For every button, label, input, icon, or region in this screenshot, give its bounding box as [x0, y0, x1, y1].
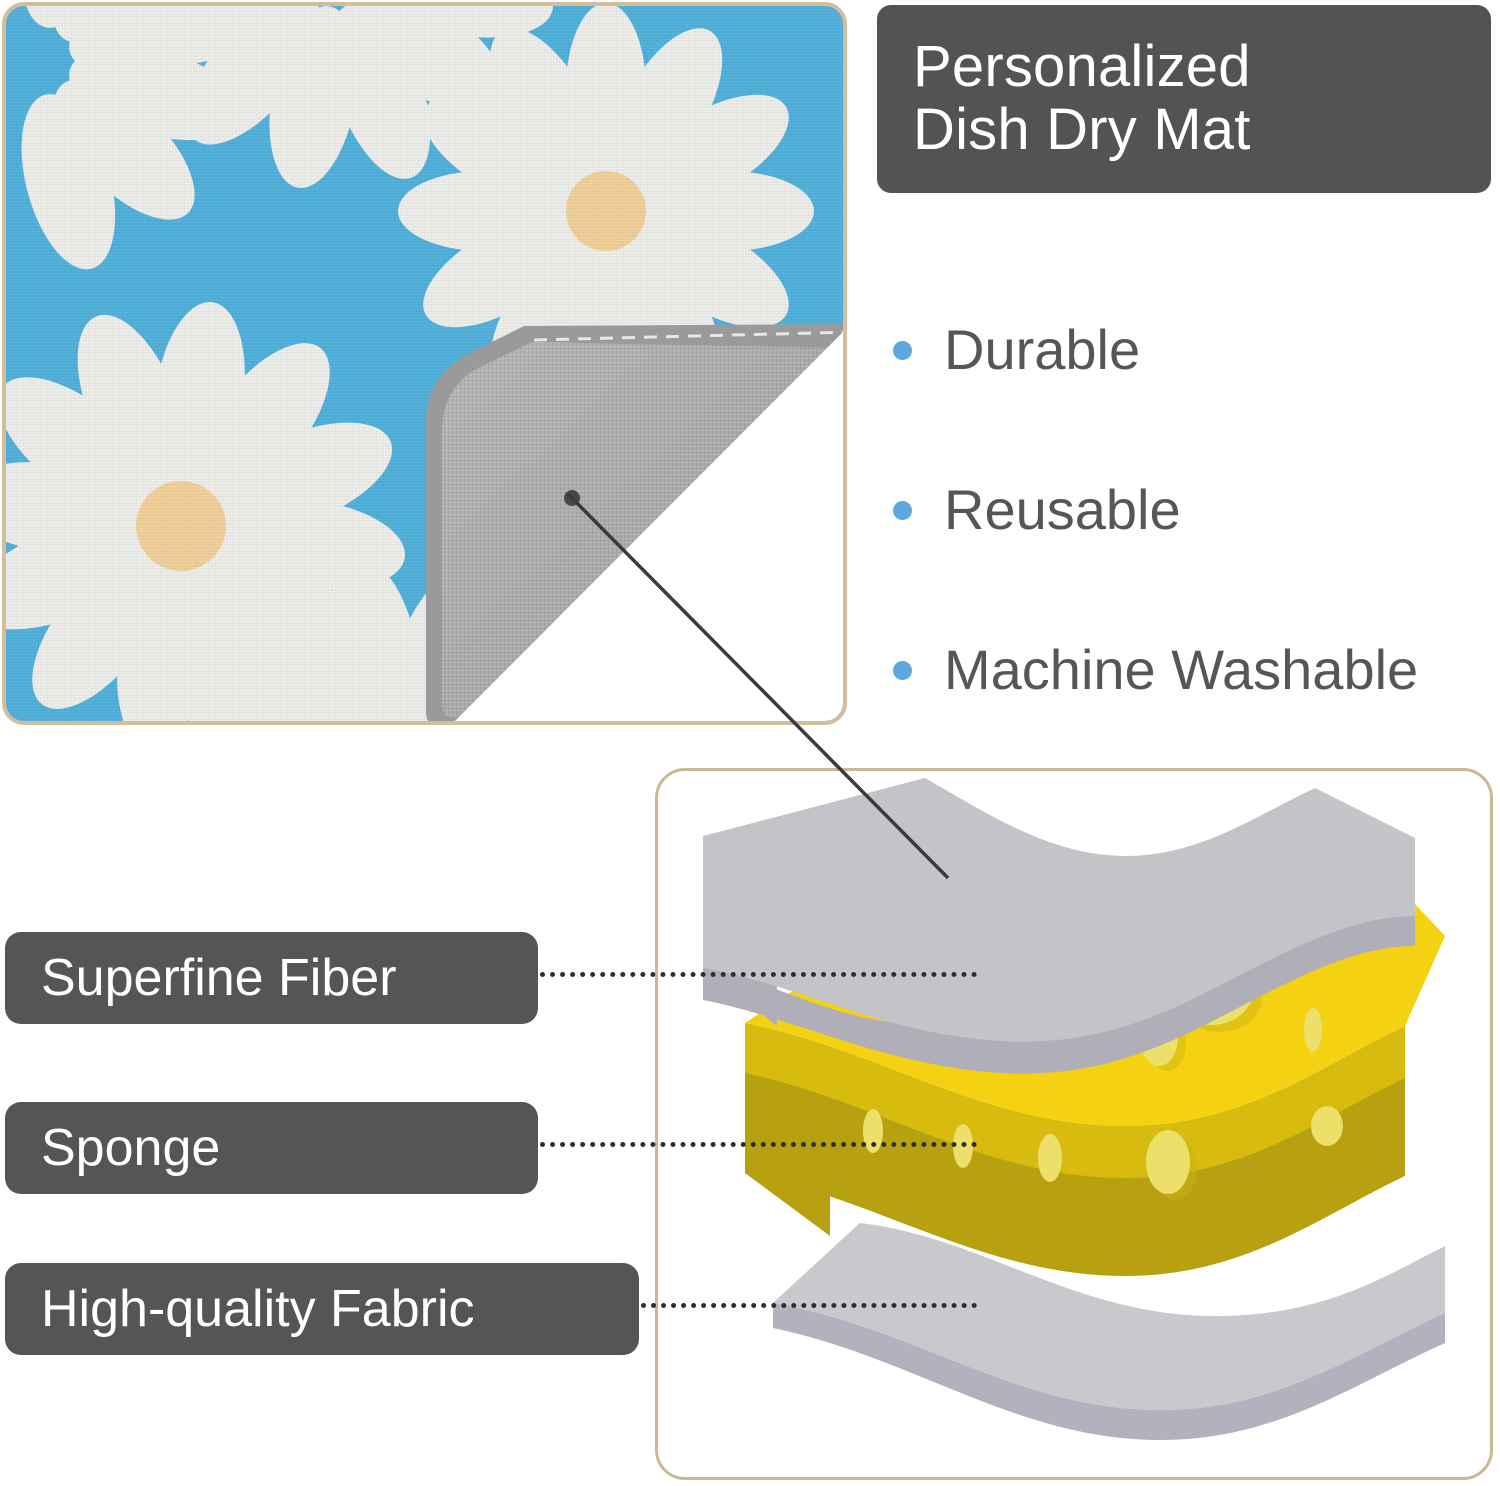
layer-label-sponge: Sponge — [5, 1102, 538, 1194]
product-photo-image — [6, 6, 843, 721]
title-banner: Personalized Dish Dry Mat — [877, 5, 1491, 193]
feature-list: Durable Reusable Machine Washable — [893, 270, 1493, 750]
leader-line-high-quality-fabric — [641, 1303, 977, 1308]
bullet-dot-icon — [893, 661, 912, 680]
feature-label: Machine Washable — [944, 642, 1418, 698]
layer-label-text: Sponge — [41, 1122, 220, 1174]
layer-label-high-quality-fabric: High-quality Fabric — [5, 1263, 639, 1355]
feature-label: Reusable — [944, 482, 1181, 538]
exploded-layer-illustration — [655, 768, 1500, 1486]
feature-item-reusable: Reusable — [893, 430, 1493, 590]
title-line-2: Dish Dry Mat — [913, 99, 1491, 162]
bullet-dot-icon — [893, 501, 912, 520]
layer-label-text: Superfine Fiber — [41, 952, 397, 1004]
leader-line-superfine-fiber — [540, 972, 977, 977]
daisy-center — [566, 171, 646, 251]
fold-anchor-dot — [564, 490, 580, 506]
title-line-1: Personalized — [913, 36, 1491, 99]
feature-label: Durable — [944, 322, 1140, 378]
layer-label-superfine-fiber: Superfine Fiber — [5, 932, 538, 1024]
feature-item-machine-washable: Machine Washable — [893, 590, 1493, 750]
product-photo-panel — [2, 2, 847, 725]
daisy-center — [136, 481, 226, 571]
bullet-dot-icon — [893, 341, 912, 360]
infographic-stage: Personalized Dish Dry Mat Durable Reusab… — [0, 0, 1500, 1486]
folded-corner-backing — [424, 306, 843, 721]
feature-item-durable: Durable — [893, 270, 1493, 430]
leader-line-sponge — [540, 1142, 977, 1147]
layer-label-text: High-quality Fabric — [41, 1283, 475, 1335]
